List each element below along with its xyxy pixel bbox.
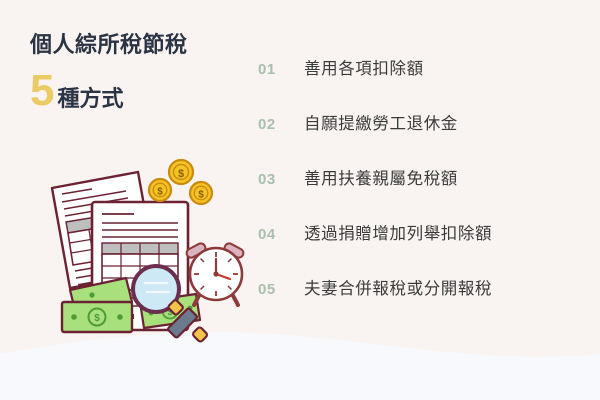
list-item-label: 透過捐贈增加列舉扣除額 [304, 220, 492, 244]
headline-subtitle: 5 種方式 [30, 71, 260, 111]
svg-text:$: $ [94, 313, 100, 324]
headline-block: 個人綜所稅節稅 5 種方式 [30, 33, 260, 112]
list-item: 04 透過捐贈增加列舉扣除額 [258, 220, 588, 275]
svg-text:$: $ [178, 168, 184, 180]
page-title: 個人綜所稅節稅 [30, 33, 260, 57]
list-item-index: 05 [258, 281, 304, 298]
list-item-label: 善用各項扣除額 [304, 55, 424, 79]
list-item: 01 善用各項扣除額 [258, 55, 588, 110]
svg-text:$: $ [157, 187, 163, 198]
svg-text:$: $ [198, 190, 204, 201]
list-item: 02 自願提繳勞工退休金 [258, 110, 588, 165]
list-item-label: 善用扶養親屬免稅額 [304, 165, 458, 189]
headline-count-number: 5 [30, 71, 53, 111]
infographic-canvas: 個人綜所稅節稅 5 種方式 [0, 0, 600, 400]
tips-list: 01 善用各項扣除額 02 自願提繳勞工退休金 03 善用扶養親屬免稅額 04 … [258, 55, 588, 330]
list-item: 03 善用扶養親屬免稅額 [258, 165, 588, 220]
list-item: 05 夫妻合併報稅或分開報稅 [258, 275, 588, 330]
list-item-index: 01 [258, 61, 304, 78]
list-item-index: 03 [258, 171, 304, 188]
gold-coins-icon: $ $ $ [149, 160, 212, 204]
list-item-index: 02 [258, 116, 304, 133]
tax-documents-savings-illustration: $ $ $ $ $ [34, 150, 259, 355]
list-item-label: 自願提繳勞工退休金 [304, 110, 458, 134]
headline-subtitle-label: 種方式 [57, 88, 123, 110]
list-item-index: 04 [258, 226, 304, 243]
list-item-label: 夫妻合併報稅或分開報稅 [304, 275, 492, 299]
